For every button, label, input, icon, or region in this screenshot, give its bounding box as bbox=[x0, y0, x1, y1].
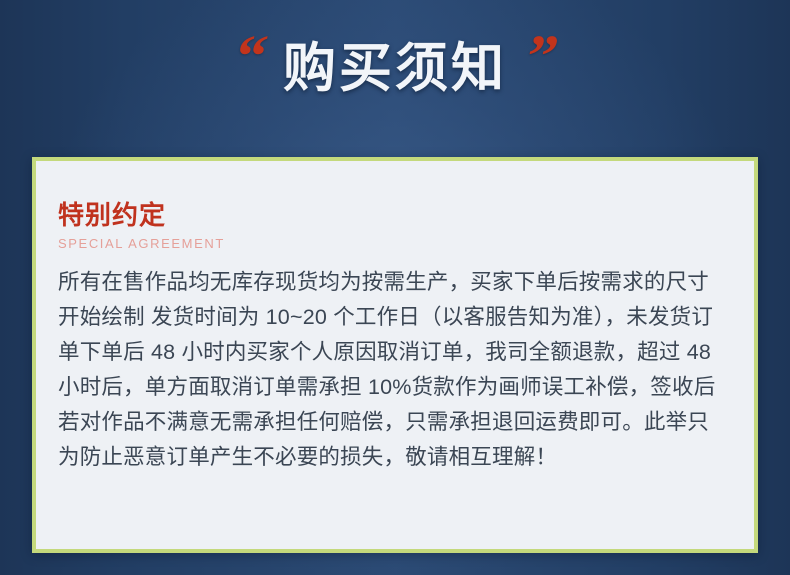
quote-open-icon: “ bbox=[231, 26, 269, 86]
special-agreement-subtitle: SPECIAL AGREEMENT bbox=[58, 236, 722, 251]
special-agreement-title: 特别约定 bbox=[58, 201, 722, 230]
page-title: “ 购买须知 ” bbox=[0, 24, 790, 112]
quote-close-icon: ” bbox=[522, 26, 560, 86]
page-title-text: 购买须知 bbox=[283, 42, 507, 95]
special-agreement-panel: 特别约定 SPECIAL AGREEMENT 所有在售作品均无库存现货均为按需生… bbox=[32, 157, 758, 553]
purchase-notice-banner: “ 购买须知 ” 特别约定 SPECIAL AGREEMENT 所有在售作品均无… bbox=[0, 0, 790, 575]
special-agreement-body: 所有在售作品均无库存现货均为按需生产，买家下单后按需求的尺寸开始绘制 发货时间为… bbox=[58, 265, 722, 475]
special-agreement-content: 特别约定 SPECIAL AGREEMENT 所有在售作品均无库存现货均为按需生… bbox=[36, 161, 754, 475]
